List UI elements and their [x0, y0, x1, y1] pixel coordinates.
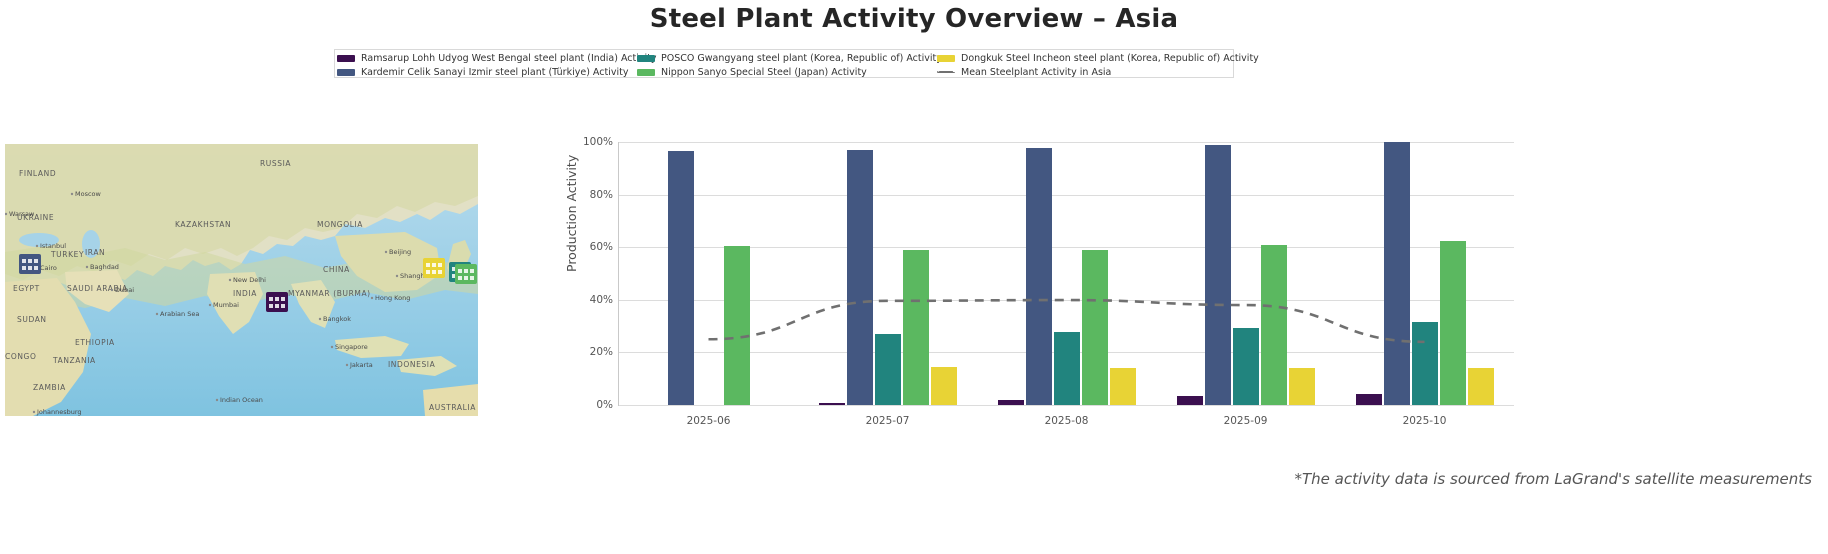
map-country-label: RUSSIA [260, 159, 291, 168]
map-city-dot [209, 304, 211, 306]
x-axis-tick-label: 2025-10 [1403, 415, 1447, 427]
plant-marker-turkiye[interactable] [19, 254, 41, 274]
map-city-label: Mumbai [213, 301, 239, 309]
map-city-label: Arabian Sea [160, 310, 199, 318]
map-country-label: MYANMAR (BURMA) [288, 289, 371, 298]
y-axis-tick-label: 40% [590, 294, 613, 306]
legend-swatch-icon [337, 55, 355, 62]
legend-item-label: Nippon Sanyo Special Steel (Japan) Activ… [661, 66, 867, 79]
map-country-label: IRAN [85, 248, 105, 257]
legend-item[interactable]: Mean Steelplant Activity in Asia [937, 65, 1237, 79]
map-country-label: TANZANIA [52, 356, 96, 365]
legend-item[interactable]: Ramsarup Lohh Udyog West Bengal steel pl… [337, 51, 637, 65]
map-city-label: Warsaw [9, 210, 35, 218]
map-city-dot [216, 399, 218, 401]
map-city-dot [33, 411, 35, 413]
map-city-dot [86, 266, 88, 268]
map-country-label: ZAMBIA [33, 383, 66, 392]
map-city-dot [371, 297, 373, 299]
map-city-label: Hong Kong [375, 294, 410, 302]
legend-dash-icon [937, 71, 955, 73]
legend-item-label: Dongkuk Steel Incheon steel plant (Korea… [961, 52, 1259, 65]
y-axis-tick-label: 0% [596, 399, 613, 411]
map-city-label: Istanbul [40, 242, 66, 250]
page-title: Steel Plant Activity Overview – Asia [0, 4, 1828, 34]
map-city-label: Jakarta [349, 361, 373, 369]
x-axis-tick-label: 2025-09 [1224, 415, 1268, 427]
map-country-label: ETHIOPIA [75, 338, 115, 347]
plant-marker-china[interactable] [423, 258, 445, 278]
legend-item-label: Ramsarup Lohh Udyog West Bengal steel pl… [361, 52, 657, 65]
map-city-label: Indian Ocean [220, 396, 263, 404]
x-axis-tick-label: 2025-08 [1045, 415, 1089, 427]
legend-item[interactable]: Nippon Sanyo Special Steel (Japan) Activ… [637, 65, 937, 79]
plant-marker-japan[interactable] [455, 264, 477, 284]
map-city-dot [396, 275, 398, 277]
x-axis-tick-label: 2025-07 [866, 415, 910, 427]
y-axis-tick-label: 60% [590, 241, 613, 253]
map-country-label: INDIA [233, 289, 257, 298]
map-city-label: Bangkok [323, 315, 351, 323]
map-country-label: TURKEY [50, 250, 84, 259]
map-city-dot [385, 251, 387, 253]
y-axis-title: Production Activity [564, 155, 579, 272]
map-country-label: MONGOLIA [317, 220, 363, 229]
activity-bar-chart: Production Activity 0%20%40%60%80%100% 2… [570, 130, 1530, 440]
map-city-dot [331, 346, 333, 348]
legend-swatch-icon [637, 69, 655, 76]
map-country-label: INDONESIA [388, 360, 436, 369]
map-country-label: CONGO [5, 352, 36, 361]
legend-item[interactable]: POSCO Gwangyang steel plant (Korea, Repu… [637, 51, 937, 65]
legend-swatch-icon [937, 55, 955, 62]
map-city-dot [229, 279, 231, 281]
legend-item-label: Mean Steelplant Activity in Asia [961, 66, 1111, 79]
plot-area: 0%20%40%60%80%100% 2025-062025-072025-08… [618, 142, 1514, 406]
map-country-label: FINLAND [19, 169, 56, 178]
map-graphic: FINLANDRUSSIAUKRAINEKAZAKHSTANMONGOLIATU… [5, 144, 478, 416]
map-city-dot [111, 289, 113, 291]
map-city-label: Baghdad [90, 263, 119, 271]
asia-map-panel[interactable]: FINLANDRUSSIAUKRAINEKAZAKHSTANMONGOLIATU… [5, 144, 478, 416]
map-city-label: Moscow [75, 190, 102, 198]
map-city-label: Dubai [115, 286, 134, 294]
legend-item-label: POSCO Gwangyang steel plant (Korea, Repu… [661, 52, 942, 65]
map-city-dot [71, 193, 73, 195]
legend-grid: Ramsarup Lohh Udyog West Bengal steel pl… [335, 50, 1233, 79]
chart-legend: Ramsarup Lohh Udyog West Bengal steel pl… [334, 49, 1234, 78]
legend-swatch-icon [637, 55, 655, 62]
y-axis-tick-label: 20% [590, 346, 613, 358]
footnote: *The activity data is sourced from LaGra… [1294, 470, 1812, 488]
y-axis-tick-label: 100% [583, 136, 613, 148]
map-country-label: AUSTRALIA [429, 403, 476, 412]
map-city-label: Cairo [40, 264, 57, 272]
legend-item[interactable]: Dongkuk Steel Incheon steel plant (Korea… [937, 51, 1237, 65]
legend-item[interactable]: Kardemir Celik Sanayi Izmir steel plant … [337, 65, 637, 79]
map-city-label: Beijing [389, 248, 411, 256]
y-axis-tick-label: 80% [590, 189, 613, 201]
map-city-label: New Delhi [233, 276, 266, 284]
mean-line-path [709, 300, 1425, 342]
map-country-label: EGYPT [13, 284, 40, 293]
map-city-label: Singapore [335, 343, 368, 351]
mean-activity-line [619, 142, 1514, 405]
gridline [619, 405, 1514, 406]
legend-swatch-icon [337, 69, 355, 76]
map-country-label: KAZAKHSTAN [175, 220, 231, 229]
map-city-dot [156, 313, 158, 315]
map-city-dot [319, 318, 321, 320]
map-country-label: CHINA [323, 265, 350, 274]
x-axis-tick-label: 2025-06 [687, 415, 731, 427]
map-country-label: SUDAN [17, 315, 47, 324]
map-city-dot [346, 364, 348, 366]
map-city-label: Johannesburg [36, 408, 82, 416]
legend-item-label: Kardemir Celik Sanayi Izmir steel plant … [361, 66, 628, 79]
plant-marker-india[interactable] [266, 292, 288, 312]
map-city-dot [36, 245, 38, 247]
